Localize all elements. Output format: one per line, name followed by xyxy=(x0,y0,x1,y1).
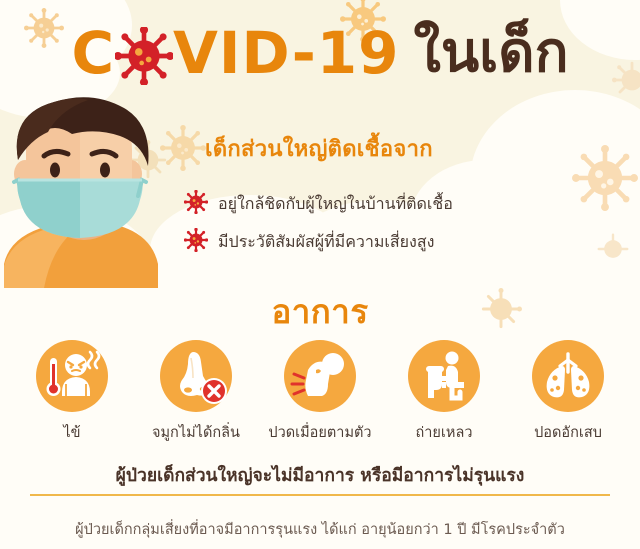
virus-bullet-icon xyxy=(184,190,208,218)
title-covid-suffix: VID-19 xyxy=(173,24,399,82)
infection-bullet-label: มีประวัติสัมผัสผู้ที่มีความเสี่ยงสูง xyxy=(218,230,434,255)
infection-bullet-label: อยู่ใกล้ชิดกับผู้ใหญ่ในบ้านที่ติดเชื้อ xyxy=(218,192,453,217)
symptom-item-fever: ไข้ xyxy=(10,340,134,444)
virus-bullet-icon xyxy=(184,228,208,256)
symptom-label: ถ่ายเหลว xyxy=(416,421,473,444)
infection-bullet-0: อยู่ใกล้ชิดกับผู้ใหญ่ในบ้านที่ติดเชื้อ xyxy=(184,190,453,218)
fever-icon xyxy=(36,340,108,412)
symptoms-heading: อาการ xyxy=(0,285,640,338)
symptom-item-pneumonia: ปอดอักเสบ xyxy=(506,340,630,444)
symptom-label: ปอดอักเสบ xyxy=(534,421,602,444)
diarrhea-toilet-icon xyxy=(408,340,480,412)
body-ache-icon xyxy=(284,340,356,412)
title-thai: ในเด็ก xyxy=(414,25,569,81)
title-covid-prefix: C xyxy=(71,24,115,82)
symptom-item-diarrhea: ถ่ายเหลว xyxy=(382,340,506,444)
infection-bullet-1: มีประวัติสัมผัสผู้ที่มีความเสี่ยงสูง xyxy=(184,228,434,256)
symptom-label: ไข้ xyxy=(63,421,80,444)
symptom-item-body-ache: ปวดเมื่อยตามตัว xyxy=(258,340,382,444)
infection-heading: เด็กส่วนใหญ่ติดเชื้อจาก xyxy=(205,131,433,166)
footer-note-small: ผู้ป่วยเด็กกลุ่มเสี่ยงที่อาจมีอาการรุนแร… xyxy=(0,518,640,541)
footer-note-strong: ผู้ป่วยเด็กส่วนใหญ่จะไม่มีอาการ หรือมีอา… xyxy=(0,461,640,489)
lungs-icon xyxy=(532,340,604,412)
virus-decoration-mid-right-small xyxy=(596,232,630,266)
symptom-label: จมูกไม่ได้กลิ่น xyxy=(152,421,240,444)
footer-divider xyxy=(30,494,610,496)
symptom-label: ปวดเมื่อยตามตัว xyxy=(268,421,371,444)
symptom-item-no-smell: จมูกไม่ได้กลิ่น xyxy=(134,340,258,444)
child-with-mask-illustration xyxy=(0,96,168,288)
symptom-list: ไข้ จมูกไม่ได้กลิ่น xyxy=(10,340,630,445)
infographic-poster: C xyxy=(0,0,640,549)
virus-o-icon xyxy=(115,24,173,82)
page-title: C xyxy=(0,18,640,88)
nose-no-smell-icon xyxy=(160,340,232,412)
virus-decoration-right-big xyxy=(572,145,638,211)
